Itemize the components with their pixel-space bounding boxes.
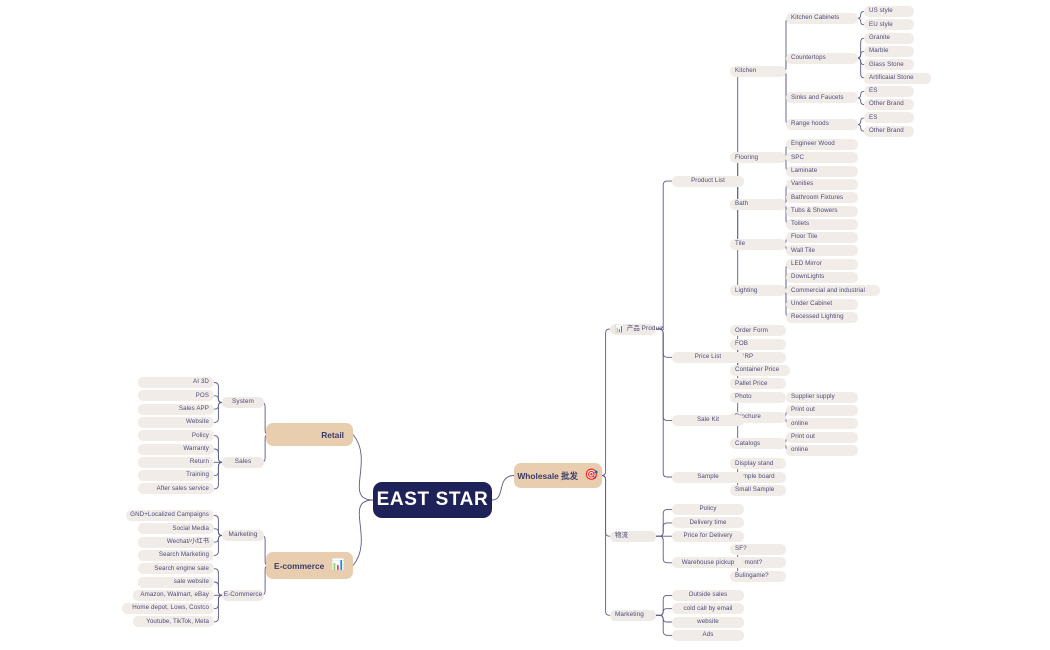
node-label: Tile	[735, 241, 745, 247]
rnode-1-3[interactable]: Training	[138, 470, 214, 481]
node-label: Small Sample	[735, 487, 774, 493]
enode-1-3[interactable]: Home depot, Lows, Costco	[122, 603, 214, 614]
node-label: ES	[869, 115, 877, 121]
enode-1[interactable]: E-Commerce	[222, 590, 264, 601]
branch-ecommerce[interactable]: E-commerce 📊	[266, 552, 353, 579]
node-label: Search Marketing	[159, 552, 209, 558]
wnode-0-3-2[interactable]: Small Sample	[730, 485, 786, 496]
wnode-0-0-0-1-3[interactable]: Artificaial Stone	[864, 73, 931, 84]
enode-0-1[interactable]: Social Media	[138, 523, 214, 534]
wnode-0-1-4[interactable]: Pallet Price	[730, 378, 786, 389]
node-label: Sales APP	[179, 406, 209, 412]
node-label: Kitchen Cabinets	[791, 15, 839, 21]
wnode-2-0[interactable]: Outside sales	[672, 590, 744, 601]
node-label: Kitchen	[735, 68, 756, 74]
wnode-0-0-0-2-0[interactable]: ES	[864, 86, 914, 97]
wnode-0-0-0-1-0[interactable]: Granite	[864, 33, 914, 44]
node-label: Price List	[695, 354, 721, 360]
node-label: Commercial and industrial	[791, 288, 865, 294]
node-label: Range hoods	[791, 121, 829, 127]
wnode-0-0-4-0[interactable]: LED Mirror	[786, 259, 858, 270]
wnode-0-0-0-3-1[interactable]: Other Brand	[864, 126, 914, 137]
node-label: AI 3D	[193, 379, 209, 385]
node-label: online	[791, 447, 808, 453]
wnode-0-1-3[interactable]: Container Price	[730, 365, 790, 376]
node-label: Wall Tile	[791, 248, 815, 254]
node-label: Floor Tile	[791, 234, 817, 240]
chart-icon: 📊	[615, 326, 624, 333]
branch-wholesale[interactable]: Wholesale 批发 🎯	[514, 463, 602, 488]
wnode-0-1-0[interactable]: Order Form	[730, 325, 786, 336]
node-label: Training	[186, 472, 209, 478]
dart-icon: 🎯	[585, 470, 599, 481]
node-label: Display stand	[735, 461, 773, 467]
node-label: Bath	[735, 201, 748, 207]
root-label: EAST STAR	[377, 489, 489, 511]
node-label: Policy	[699, 506, 716, 512]
node-label: Sales	[235, 459, 252, 465]
enode-0[interactable]: Marketing	[222, 530, 264, 541]
wnode-1[interactable]: 物流	[610, 531, 656, 542]
wnode-0-0-2[interactable]: Bath	[730, 199, 786, 210]
node-label: DownLights	[791, 274, 824, 280]
rnode-1[interactable]: Sales	[222, 457, 264, 468]
wnode-0-0-1-2[interactable]: Laminate	[786, 166, 858, 177]
node-label: EU style	[869, 22, 893, 28]
wnode-0-0-4-1[interactable]: DownLights	[786, 272, 858, 283]
wnode-0-0-3[interactable]: Tile	[730, 239, 786, 250]
node-label: ES	[869, 88, 877, 94]
node-label: Catalogs	[735, 441, 760, 447]
node-label: Pallet Price	[735, 381, 768, 387]
wnode-0-0-0-1-1[interactable]: Marble	[864, 46, 914, 57]
rnode-1-0[interactable]: Policy	[138, 430, 214, 441]
node-label: Youtube, TikTok, Meta	[146, 619, 209, 625]
node-label: POS	[196, 393, 209, 399]
wnode-0[interactable]: 📊产品 Product	[610, 324, 656, 335]
node-label: Other Brand	[869, 101, 904, 107]
node-label: online	[791, 421, 808, 427]
wnode-0-1-1[interactable]: FOB	[730, 339, 786, 350]
node-label: Warranty	[183, 446, 209, 452]
node-label: cold call by email	[684, 606, 733, 612]
node-label: Glass Stone	[869, 62, 904, 68]
presentation-icon: 📊	[331, 560, 345, 571]
node-label: 产品 Product	[627, 326, 665, 332]
node-label: Engineer Wood	[791, 141, 835, 147]
rnode-1-1[interactable]: Warranty	[138, 444, 214, 455]
node-label: LED Mirror	[791, 261, 822, 267]
node-label: Product List	[691, 178, 725, 184]
wnode-0-0-0-0[interactable]: Kitchen Cabinets	[786, 13, 858, 24]
node-label: Price for Delivery	[684, 533, 733, 539]
node-label: SF?	[735, 546, 747, 552]
enode-1-4[interactable]: Youtube, TikTok, Meta	[133, 616, 214, 627]
node-label: Recessed Lighting	[791, 314, 844, 320]
rnode-0[interactable]: System	[222, 397, 264, 408]
node-label: 物流	[615, 533, 628, 539]
branch-wholesale-label: Wholesale 批发	[517, 470, 578, 482]
wnode-0-0-2-2[interactable]: Tubs & Showers	[786, 206, 858, 217]
node-label: Supplier supply	[791, 394, 835, 400]
root-node[interactable]: EAST STAR	[373, 482, 492, 518]
wnode-0-0-0-1[interactable]: Countertops	[786, 53, 858, 64]
wnode-0-0-4-3[interactable]: Under Cabinet	[786, 299, 858, 310]
branch-ecommerce-label: E-commerce	[274, 561, 324, 571]
node-label: After sales service	[157, 486, 209, 492]
branch-retail[interactable]: Retail	[266, 423, 353, 446]
node-label: Laminate	[791, 168, 817, 174]
wnode-0-1[interactable]: Price List	[672, 352, 744, 363]
wnode-0-3[interactable]: Sample	[672, 472, 744, 483]
node-label: Flooring	[735, 155, 758, 161]
wnode-0-0-0-1-2[interactable]: Glass Stone	[864, 59, 914, 70]
rnode-0-1[interactable]: POS	[138, 390, 214, 401]
node-label: SPC	[791, 155, 804, 161]
wnode-0-0-0-3[interactable]: Range hoods	[786, 119, 858, 130]
node-label: Wechat/小红书	[167, 539, 209, 545]
wnode-0-0-3-0[interactable]: Floor Tile	[786, 232, 858, 243]
node-label: Sample	[697, 474, 719, 480]
rnode-0-3[interactable]: Website	[138, 417, 214, 428]
wnode-0-0-1[interactable]: Flooring	[730, 152, 786, 163]
node-label: Ads	[703, 632, 714, 638]
node-label: Sinks and Faucets	[791, 95, 844, 101]
node-label: Social Media	[172, 526, 209, 532]
wnode-0-2-0[interactable]: Photo	[730, 392, 786, 403]
node-label: Amazon, Walmart, eBay	[140, 592, 209, 598]
wnode-0-0-0-2[interactable]: Sinks and Faucets	[786, 92, 858, 103]
enode-1-0[interactable]: Search engine sale	[138, 563, 214, 574]
wnode-1-1[interactable]: Delivery time	[672, 517, 744, 528]
node-label: Print out	[791, 407, 815, 413]
enode-0-3[interactable]: Search Marketing	[138, 550, 214, 561]
enode-1-2[interactable]: Amazon, Walmart, eBay	[133, 590, 214, 601]
node-label: Under Cabinet	[791, 301, 832, 307]
node-label: System	[232, 399, 254, 405]
wnode-2-1[interactable]: cold call by email	[672, 603, 744, 614]
node-label: Marketing	[229, 532, 258, 538]
node-label: Order Form	[735, 328, 768, 334]
node-label: Container Price	[735, 367, 779, 373]
node-label: sale website	[174, 579, 209, 585]
wnode-0-0-4-2[interactable]: Commercial and industrial	[786, 285, 880, 296]
wnode-0-0-1-1[interactable]: SPC	[786, 152, 858, 163]
node-label: website	[697, 619, 719, 625]
branch-retail-label: Retail	[321, 430, 344, 440]
node-label: Marble	[869, 48, 889, 54]
node-label: Delivery time	[689, 520, 726, 526]
wnode-0-2-1-1[interactable]: online	[786, 418, 858, 429]
node-label: Print out	[791, 434, 815, 440]
node-label: Warehouse pickup	[682, 560, 735, 566]
node-label: Return	[190, 459, 209, 465]
wnode-0-2-1-0[interactable]: Print out	[786, 405, 858, 416]
node-label: Policy	[192, 433, 209, 439]
node-label: Other Brand	[869, 128, 904, 134]
wnode-0-2-2-0[interactable]: Print out	[786, 432, 858, 443]
wnode-0-0-0-3-0[interactable]: ES	[864, 112, 914, 123]
node-label: GND+Localized Campaigns	[130, 512, 209, 518]
enode-1-1[interactable]: sale website	[138, 577, 214, 588]
node-label: Bulingame?	[735, 573, 769, 579]
wnode-0-0-0[interactable]: Kitchen	[730, 66, 786, 77]
enode-0-0[interactable]: GND+Localized Campaigns	[126, 510, 214, 521]
wnode-2[interactable]: Marketing	[610, 610, 656, 621]
node-label: Tubs & Showers	[791, 208, 838, 214]
node-label: Website	[186, 419, 209, 425]
rnode-0-0[interactable]: AI 3D	[138, 377, 214, 388]
wnode-0-0[interactable]: Product List	[672, 176, 744, 187]
node-label: Search engine sale	[154, 566, 209, 572]
rnode-1-4[interactable]: After sales service	[138, 483, 214, 494]
node-label: Countertops	[791, 55, 826, 61]
wnode-2-3[interactable]: Ads	[672, 630, 744, 641]
node-label: Photo	[735, 394, 752, 400]
wnode-0-2-2-1[interactable]: online	[786, 445, 858, 456]
wnode-0-0-0-0-0[interactable]: US style	[864, 6, 914, 17]
wnode-1-3[interactable]: Warehouse pickup	[672, 557, 744, 568]
wnode-2-2[interactable]: website	[672, 617, 744, 628]
node-label: Vanities	[791, 181, 813, 187]
node-label: E-Commerce	[224, 592, 263, 598]
node-label: Lighting	[735, 288, 757, 294]
node-label: Outside sales	[689, 592, 728, 598]
wnode-0-0-4[interactable]: Lighting	[730, 285, 786, 296]
wnode-0-3-0[interactable]: Display stand	[730, 458, 786, 469]
wnode-1-3-0[interactable]: SF?	[730, 544, 786, 555]
wnode-0-2-0-0[interactable]: Supplier supply	[786, 392, 858, 403]
wnode-1-2[interactable]: Price for Delivery	[672, 531, 744, 542]
node-label: Toilets	[791, 221, 809, 227]
node-label: Bathroom Fixtures	[791, 195, 843, 201]
wnode-0-0-2-1[interactable]: Bathroom Fixtures	[786, 192, 858, 203]
node-label: Granite	[869, 35, 890, 41]
wnode-0-0-1-0[interactable]: Engineer Wood	[786, 139, 858, 150]
node-label: US style	[869, 8, 893, 14]
rnode-0-2[interactable]: Sales APP	[138, 404, 214, 415]
mindmap-canvas: EAST STAR Wholesale 批发 🎯 Retail E-commer…	[0, 0, 1050, 650]
node-label: Marketing	[615, 612, 644, 618]
enode-0-2[interactable]: Wechat/小红书	[138, 537, 214, 548]
rnode-1-2[interactable]: Return	[138, 457, 214, 468]
node-label: FOB	[735, 341, 748, 347]
wnode-0-0-4-4[interactable]: Recessed Lighting	[786, 312, 858, 323]
wnode-0-2[interactable]: Sale Kit	[672, 415, 744, 426]
wnode-0-2-2[interactable]: Catalogs	[730, 438, 786, 449]
node-label: Artificaial Stone	[869, 75, 914, 81]
wnode-0-0-2-0[interactable]: Vanities	[786, 179, 858, 190]
wnode-0-0-2-3[interactable]: Toilets	[786, 219, 858, 230]
wnode-0-0-0-0-1[interactable]: EU style	[864, 19, 914, 30]
wnode-1-3-2[interactable]: Bulingame?	[730, 571, 786, 582]
node-label: Sale Kit	[697, 417, 719, 423]
wnode-0-0-3-1[interactable]: Wall Tile	[786, 245, 858, 256]
wnode-0-0-0-2-1[interactable]: Other Brand	[864, 99, 914, 110]
wnode-1-0[interactable]: Policy	[672, 504, 744, 515]
node-label: Home depot, Lows, Costco	[132, 605, 209, 611]
